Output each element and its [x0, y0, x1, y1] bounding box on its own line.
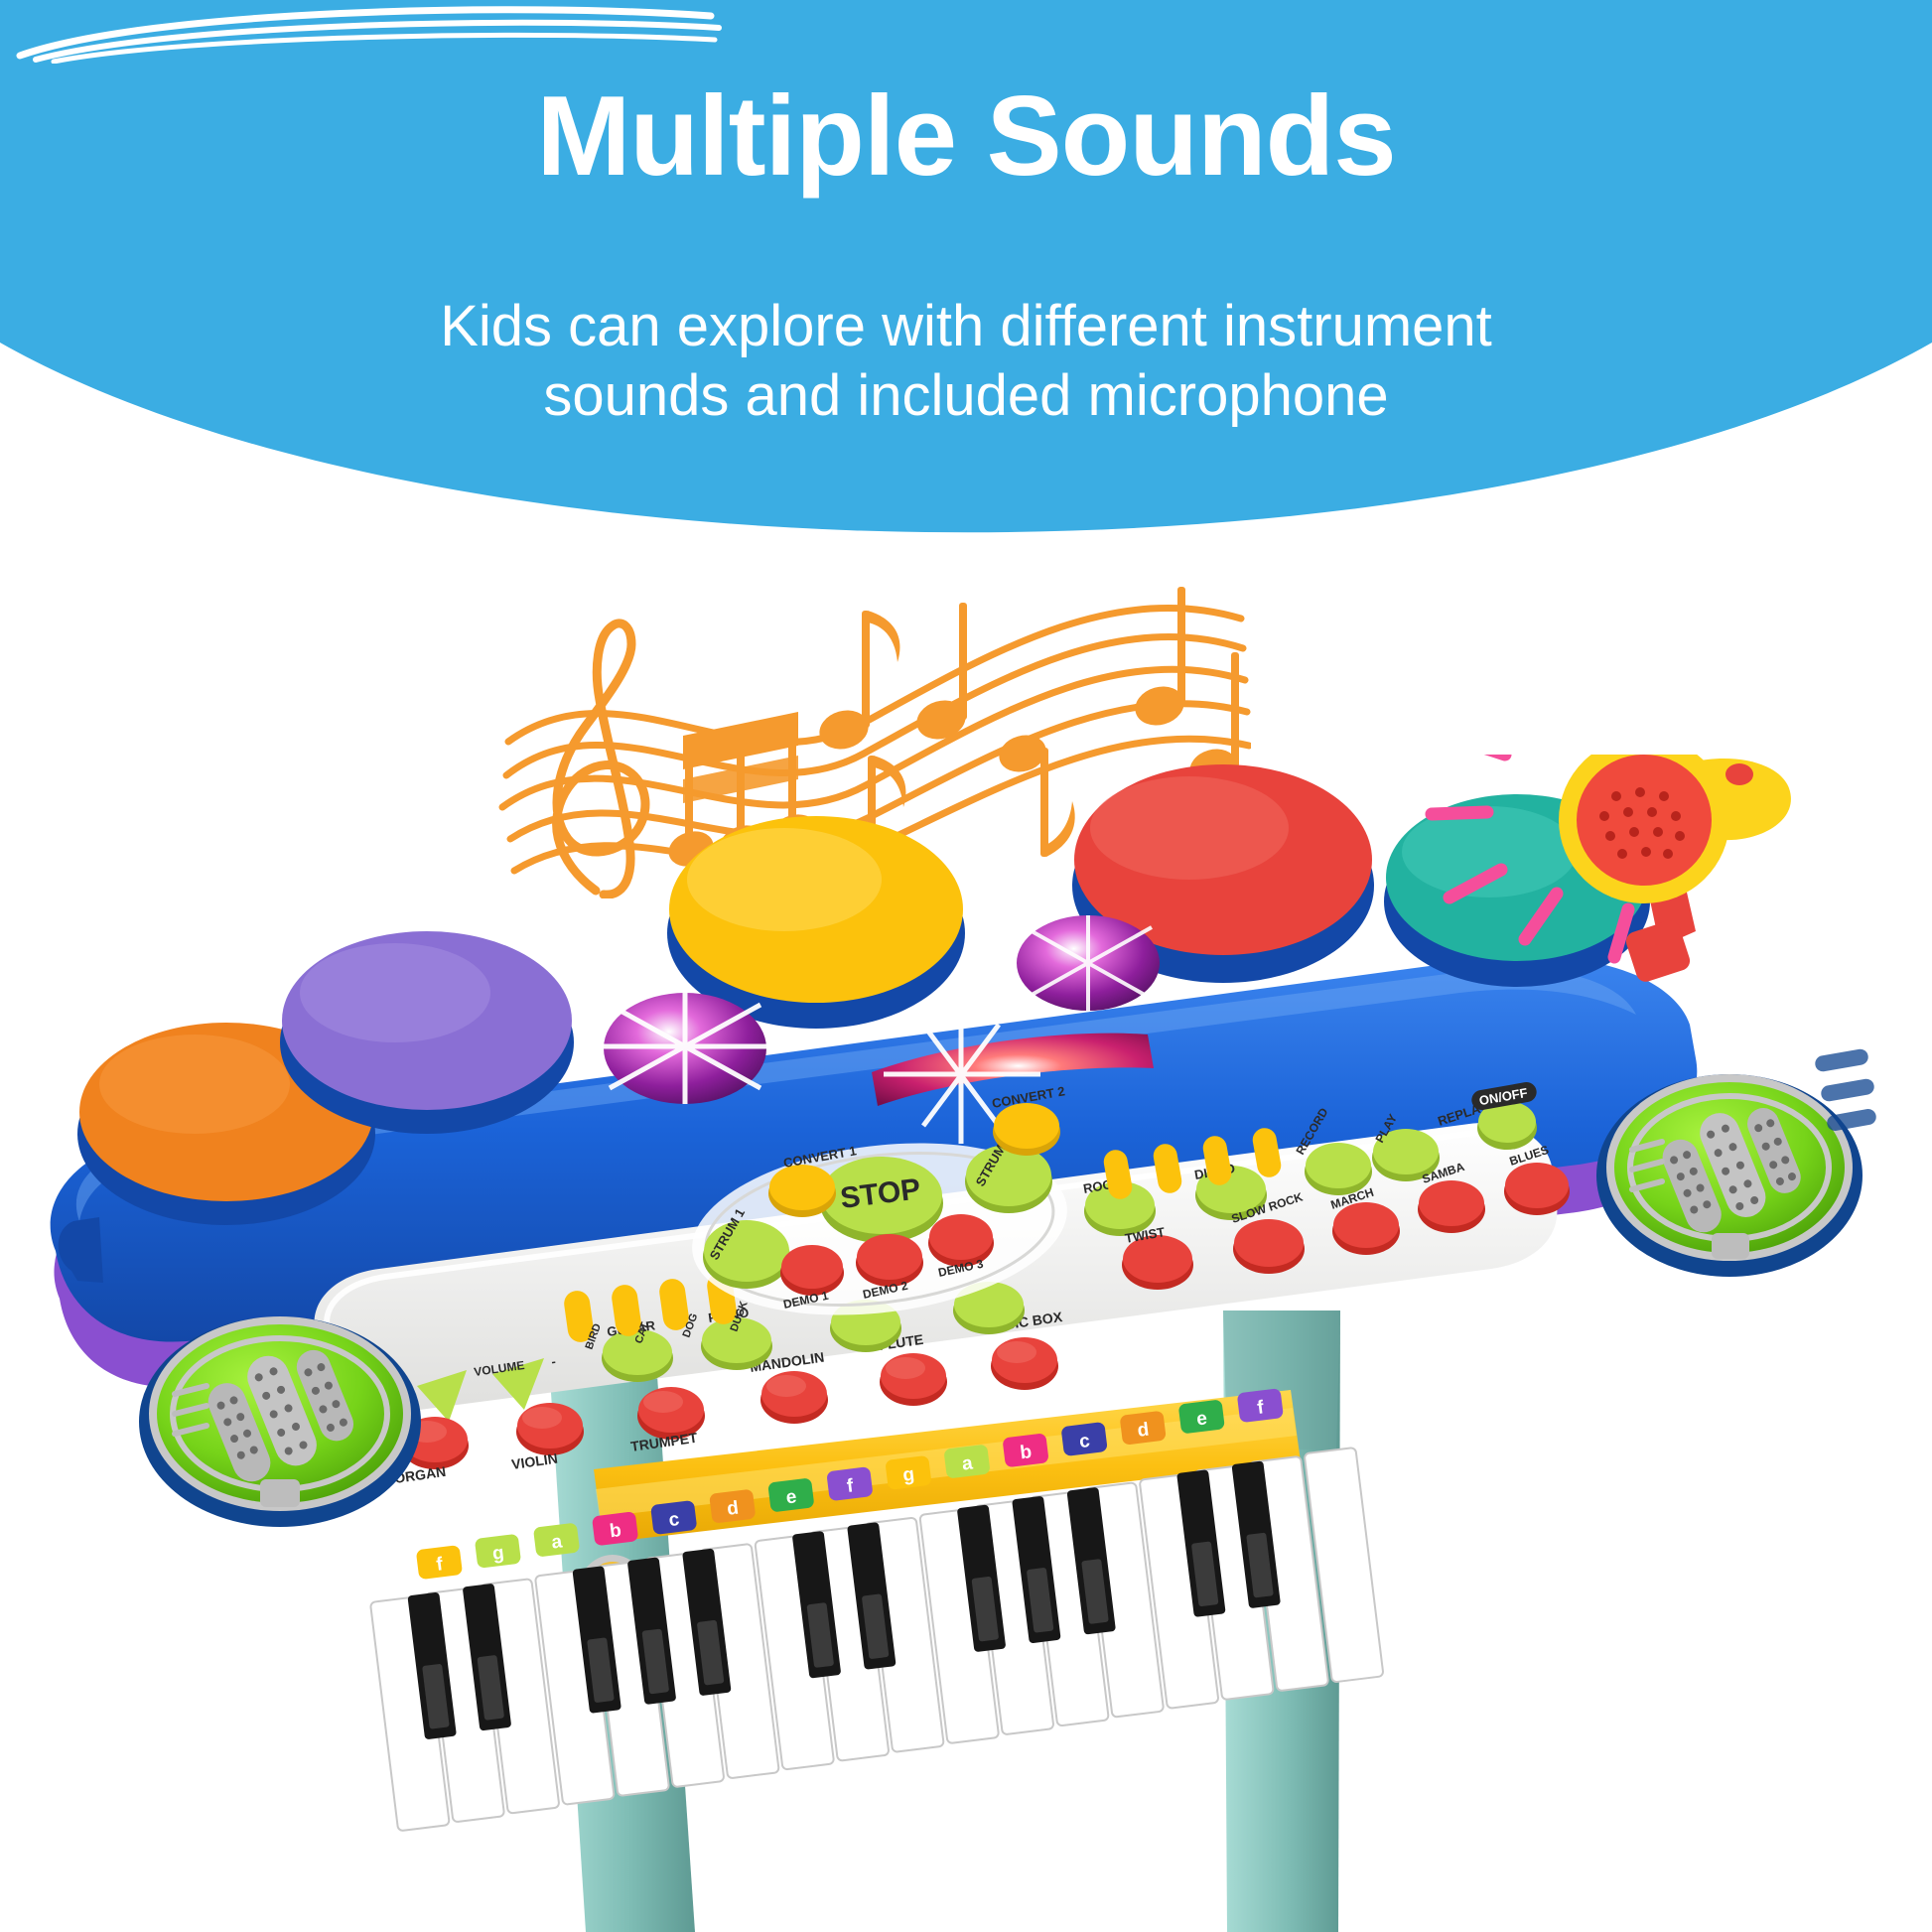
demo-1-button[interactable]	[781, 1245, 843, 1289]
header-banner: Multiple Sounds Kids can explore with di…	[0, 0, 1932, 576]
rhythm-button-march[interactable]	[1333, 1202, 1399, 1248]
rhythm-button-samba[interactable]	[1419, 1180, 1484, 1226]
convert-1-button[interactable]	[769, 1165, 835, 1210]
rhythm-button-slow-rock[interactable]	[1234, 1219, 1304, 1267]
speaker-right	[1596, 1074, 1863, 1277]
banner-shape	[0, 0, 1932, 576]
rhythm-button-record[interactable]	[1306, 1143, 1371, 1188]
svg-text:VIOLIN: VIOLIN	[510, 1450, 558, 1472]
convert-2-button[interactable]	[994, 1103, 1059, 1149]
microphone-grille	[1577, 755, 1712, 886]
demo-2-button[interactable]	[857, 1234, 922, 1280]
rhythm-button-blues[interactable]	[1505, 1163, 1569, 1208]
demo-3-button[interactable]	[929, 1214, 993, 1260]
product-feature-image: Multiple Sounds Kids can explore with di…	[0, 0, 1932, 1932]
toy-keyboard-product: + VOLUME - ORGAN VIOLIN TRUMPET	[0, 755, 1932, 1932]
speaker-left	[139, 1316, 421, 1527]
